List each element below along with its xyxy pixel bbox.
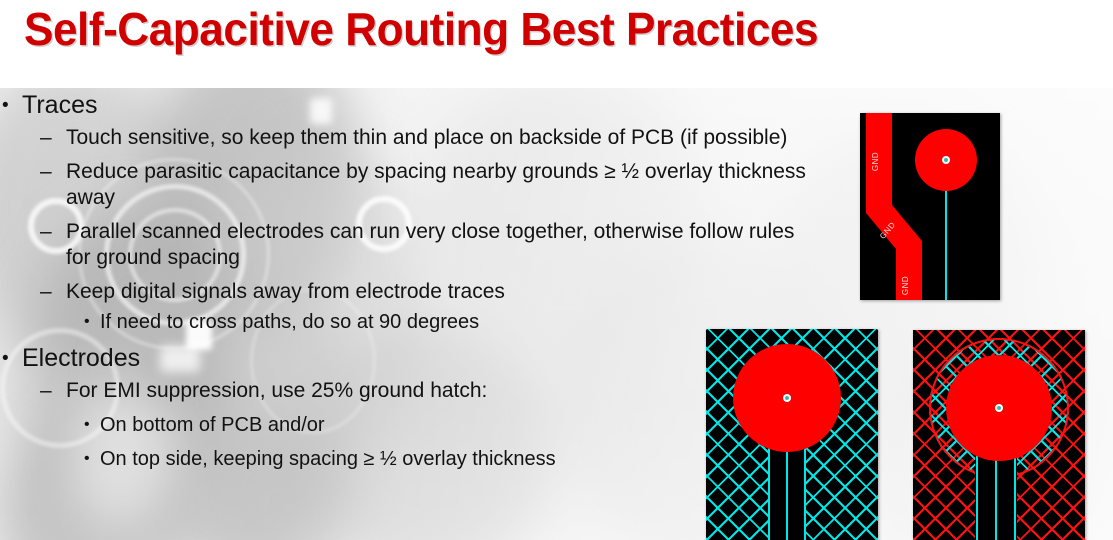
clearance-edge-left <box>976 448 978 540</box>
outline-item-parallel-electrodes: – Parallel scanned electrodes can run ve… <box>0 219 806 271</box>
dash-icon: – <box>40 159 52 185</box>
dash-icon: – <box>40 219 52 245</box>
clearance-edge-right <box>804 437 806 540</box>
outline-item-reduce-parasitic: – Reduce parasitic capacitance by spacin… <box>0 159 806 211</box>
via-icon <box>995 404 1003 412</box>
bullet-icon: • <box>2 343 9 374</box>
slide-canvas: Self-Capacitive Routing Best Practices •… <box>0 0 1113 540</box>
outline-item-touch-sensitive: – Touch sensitive, so keep them thin and… <box>0 125 806 151</box>
outline-item-label: For EMI suppression, use 25% ground hatc… <box>66 379 487 402</box>
outline-item-keep-digital-signals: – Keep digital signals away from electro… <box>0 279 806 305</box>
clearance-edge-left <box>768 437 770 540</box>
outline-item-label: If need to cross paths, do so at 90 degr… <box>100 311 479 333</box>
signal-trace <box>786 437 788 540</box>
via-icon <box>942 156 950 164</box>
dash-icon: – <box>40 378 52 404</box>
via-icon <box>783 394 791 402</box>
bullet-icon: • <box>84 446 90 472</box>
gnd-label-bottom: GND <box>901 276 910 295</box>
outline-item-label: On top side, keeping spacing ≥ ½ overlay… <box>100 448 556 470</box>
bullet-icon: • <box>84 309 90 335</box>
outline-item-label: Parallel scanned electrodes can run very… <box>66 220 794 269</box>
outline-item-label: Touch sensitive, so keep them thin and p… <box>66 126 787 149</box>
outline-item-label: Electrodes <box>22 344 140 372</box>
outline-item-label: On bottom of PCB and/or <box>100 414 325 436</box>
pcb-figure-ground-trace: GND GND GND <box>860 113 1000 300</box>
clearance-edge-right <box>1014 448 1016 540</box>
outline-item-emi-suppression: – For EMI suppression, use 25% ground ha… <box>0 378 806 404</box>
outline-item-traces: • Traces <box>0 90 860 121</box>
outline-item-label: Reduce parasitic capacitance by spacing … <box>66 160 806 209</box>
bullet-icon: • <box>2 90 9 121</box>
pcb-figure-cyan-hatch <box>706 329 878 540</box>
gnd-label-top: GND <box>871 152 880 171</box>
bullet-icon: • <box>84 412 90 438</box>
dash-icon: – <box>40 279 52 305</box>
page-title: Self-Capacitive Routing Best Practices <box>24 0 984 58</box>
signal-trace <box>945 175 947 300</box>
outline-item-label: Traces <box>22 91 97 119</box>
signal-trace <box>995 448 997 540</box>
dash-icon: – <box>40 125 52 151</box>
outline-item-label: Keep digital signals away from electrode… <box>66 280 505 303</box>
pcb-figure-red-hatch <box>913 330 1085 540</box>
